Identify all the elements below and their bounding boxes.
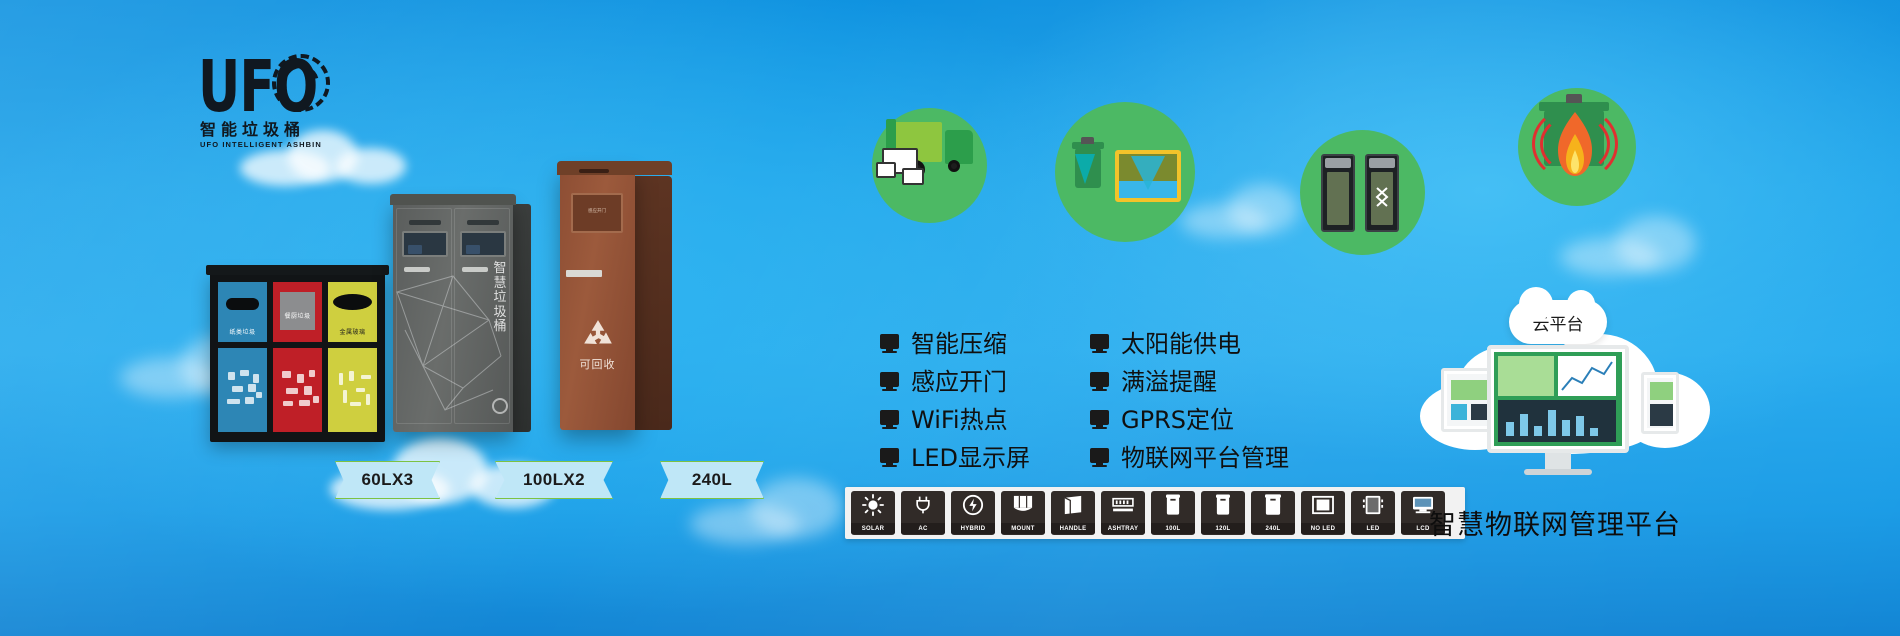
deposit-slot — [226, 298, 259, 310]
waste-compaction-icon — [1300, 130, 1425, 255]
capacity-banner-60l: 60LX3 — [335, 461, 440, 499]
monitor-icon — [880, 448, 899, 463]
spec-label: NO LED — [1301, 523, 1345, 534]
bin-compartment-kitchen: 餐厨垃圾 — [273, 282, 322, 432]
spec-label: AC — [901, 523, 945, 534]
feature-item: GPRS定位 — [1090, 401, 1289, 433]
product-bin-240l[interactable]: 感应开门 可回收 — [560, 168, 672, 430]
ashtray-icon — [1101, 493, 1145, 517]
monitor-icon — [1090, 334, 1109, 349]
compartment-label: 餐厨垃圾 — [273, 311, 322, 320]
tablet-icon — [1441, 368, 1493, 432]
collection-truck-icon — [872, 108, 987, 223]
monitor-icon — [1090, 410, 1109, 425]
desktop-monitor-icon — [1487, 345, 1629, 453]
no-led-icon — [1301, 493, 1345, 517]
monitor-icon — [1090, 448, 1109, 463]
spec-item-240l[interactable]: 240L — [1251, 491, 1295, 535]
spec-label: ASHTRAY — [1101, 523, 1145, 534]
spec-item-100l[interactable]: 100L — [1151, 491, 1195, 535]
brand-logo: UFO 智能垃圾桶 UFO INTELLIGENT ASHBIN — [198, 52, 333, 160]
monitor-screen — [1494, 352, 1622, 446]
fire-alarm-icon — [1518, 88, 1636, 206]
bin-door-left[interactable] — [396, 208, 452, 424]
feature-label: 满溢提醒 — [1121, 362, 1217, 397]
feature-item: 满溢提醒 — [1090, 363, 1289, 395]
feature-item: LED显示屏 — [880, 439, 1030, 471]
feature-label: 感应开门 — [911, 362, 1007, 397]
cloud-platform-badge: 云平台 — [1509, 300, 1607, 344]
feature-label: LED显示屏 — [911, 438, 1030, 473]
feature-label: GPRS定位 — [1121, 400, 1234, 435]
bin-100l-icon — [1151, 493, 1195, 517]
banner-scene: UFO 智能垃圾桶 UFO INTELLIGENT ASHBIN 纸类垃圾 — [0, 0, 1900, 636]
capacity-banner-240l: 240L — [660, 461, 764, 499]
feature-list-left: 智能压缩 感应开门 WiFi热点 LED显示屏 — [880, 325, 1030, 477]
spec-label: 240L — [1251, 523, 1295, 534]
monitor-icon — [880, 372, 899, 387]
deposit-window — [402, 231, 448, 257]
card-reader — [404, 267, 430, 272]
spec-label: 100L — [1151, 523, 1195, 534]
card-reader — [566, 270, 602, 277]
led-strip-icon — [467, 220, 499, 225]
litter-graphic — [222, 368, 263, 418]
feature-circle-fill-level — [1055, 102, 1195, 242]
feature-item: 感应开门 — [880, 363, 1030, 395]
capacity-banner-100l: 100LX2 — [495, 461, 613, 499]
bin-body-text: 可回收 — [560, 356, 635, 372]
ufo-logo-mark-icon — [492, 398, 508, 414]
spec-item-solar[interactable]: SOLAR — [851, 491, 895, 535]
screen-text: 感应开门 — [573, 208, 621, 215]
bin-body: 智慧垃圾桶 — [393, 200, 513, 432]
led-strip-icon — [409, 220, 441, 225]
litter-graphic — [277, 368, 318, 418]
spec-label: 120L — [1201, 523, 1245, 534]
bin-body: 感应开门 可回收 — [560, 168, 635, 430]
feature-item: 智能压缩 — [880, 325, 1030, 357]
compartment-label: 纸类垃圾 — [218, 327, 267, 336]
led-panel-icon — [1351, 493, 1395, 517]
spec-label: HANDLE — [1051, 523, 1095, 534]
product-bin-100l[interactable]: 智慧垃圾桶 — [393, 200, 531, 432]
feature-label: 太阳能供电 — [1121, 324, 1241, 359]
spec-item-ashtray[interactable]: ASHTRAY — [1101, 491, 1145, 535]
brand-name-cn: 智能垃圾桶 — [200, 116, 332, 140]
compartment-top-panel: 纸类垃圾 — [218, 282, 267, 342]
ufo-ring-logo-icon — [272, 54, 330, 112]
compartment-label: 金属玻璃 — [328, 327, 377, 336]
bin-side-panel — [513, 204, 531, 432]
litter-graphic — [332, 368, 373, 418]
bin-cap — [206, 265, 389, 275]
monitor-icon — [880, 334, 899, 349]
compartment-top-panel: 金属玻璃 — [328, 282, 377, 342]
product-bin-60l[interactable]: 纸类垃圾 餐厨垃圾 — [210, 272, 385, 442]
feature-label: WiFi热点 — [911, 400, 1008, 435]
spec-label: LED — [1351, 523, 1395, 534]
compartment-top-panel: 餐厨垃圾 — [273, 282, 322, 342]
deposit-slot — [333, 294, 372, 310]
feature-circle-fire-alarm — [1518, 88, 1636, 206]
bin-lid — [390, 194, 516, 205]
platform-title: 智慧物联网管理平台 — [1405, 503, 1705, 542]
recycle-icon — [580, 318, 616, 352]
feature-label: 物联网平台管理 — [1121, 438, 1289, 473]
bin-compartment-metal-glass: 金属玻璃 — [328, 282, 377, 432]
monitor-icon — [880, 410, 899, 425]
spec-icon-strip: SOLAR AC HYBRID MOUNT — [845, 487, 1465, 539]
spec-item-hybrid[interactable]: HYBRID — [951, 491, 995, 535]
feature-label: 智能压缩 — [911, 324, 1007, 359]
bin-body-text: 智慧垃圾桶 — [493, 262, 508, 335]
compartment-bottom-panel — [273, 348, 322, 432]
bin-lid — [557, 161, 672, 175]
spec-item-ac[interactable]: AC — [901, 491, 945, 535]
bin-side-panel — [635, 176, 672, 430]
vent-slit — [579, 169, 609, 173]
spec-item-handle[interactable]: HANDLE — [1051, 491, 1095, 535]
spec-label: SOLAR — [851, 523, 895, 534]
brand-name-en: UFO INTELLIGENT ASHBIN — [200, 140, 338, 149]
card-reader — [462, 267, 488, 272]
display-screen: 感应开门 — [571, 193, 623, 233]
fill-level-sensor-icon — [1055, 102, 1195, 242]
spec-item-120l[interactable]: 120L — [1201, 491, 1245, 535]
compartment-bottom-panel — [328, 348, 377, 432]
monitor-icon — [1090, 372, 1109, 387]
hybrid-power-icon — [951, 493, 995, 517]
compartment-bottom-panel — [218, 348, 267, 432]
bin-120l-icon — [1201, 493, 1245, 517]
cloud-decoration — [1560, 210, 1740, 280]
spec-label: HYBRID — [951, 523, 995, 534]
bin-240l-icon — [1251, 493, 1295, 517]
spec-label: MOUNT — [1001, 523, 1045, 534]
wall-mount-icon — [1001, 493, 1045, 517]
plug-icon — [901, 493, 945, 517]
deposit-window — [460, 231, 506, 257]
feature-list-right: 太阳能供电 满溢提醒 GPRS定位 物联网平台管理 — [1090, 325, 1289, 477]
smartphone-icon — [1641, 372, 1679, 434]
feature-circle-collection-truck — [872, 108, 987, 223]
feature-item: WiFi热点 — [880, 401, 1030, 433]
handle-icon — [1051, 493, 1095, 517]
feature-item: 太阳能供电 — [1090, 325, 1289, 357]
feature-circle-compaction — [1300, 130, 1425, 255]
spec-item-no-led[interactable]: NO LED — [1301, 491, 1345, 535]
spec-item-mount[interactable]: MOUNT — [1001, 491, 1045, 535]
feature-item: 物联网平台管理 — [1090, 439, 1289, 471]
bin-compartment-paper: 纸类垃圾 — [218, 282, 267, 432]
spec-item-led[interactable]: LED — [1351, 491, 1395, 535]
sun-icon — [851, 493, 895, 517]
